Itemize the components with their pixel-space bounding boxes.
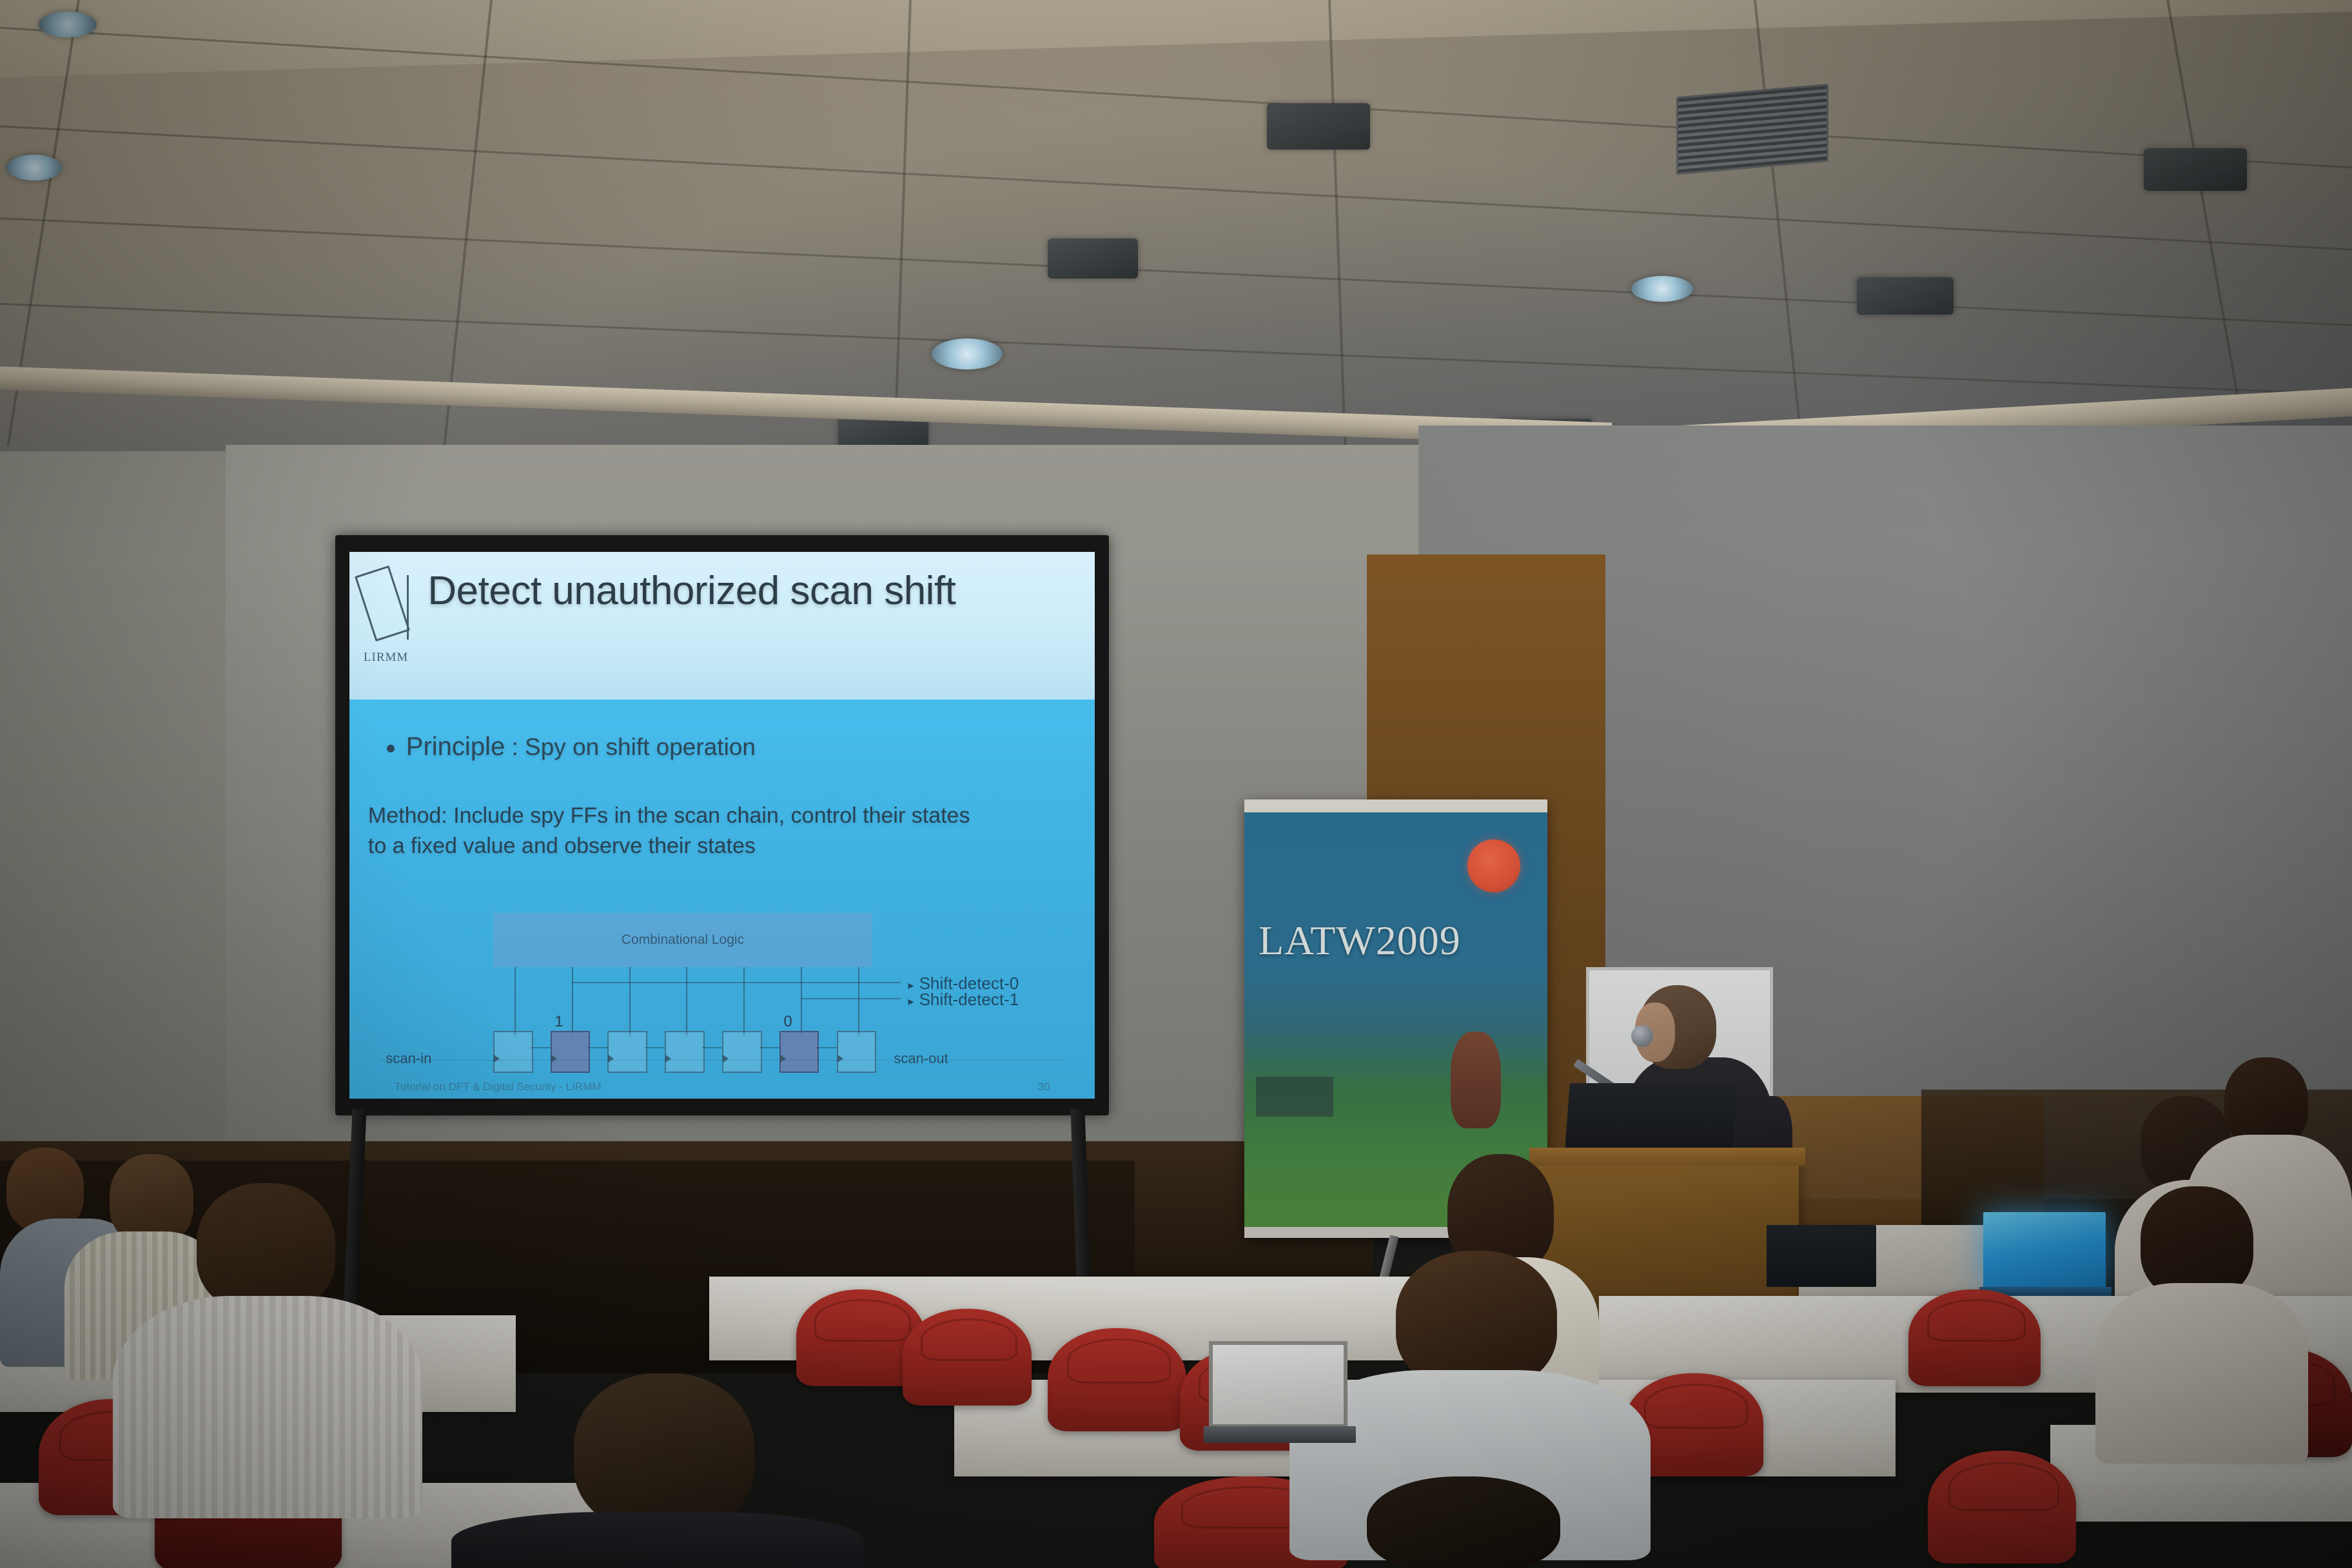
clock-input-icon [723,1055,729,1063]
flip-flop-spy [779,1031,819,1073]
slide-footer: Tutorial on DFT & Digital Security - LIR… [349,1081,1095,1093]
method-line-1: Method: Include spy FFs in the scan chai… [368,801,1076,831]
projection-screen-frame: LIRMM Detect unauthorized scan shift Pri… [335,535,1109,1115]
ceiling-downlight [1048,239,1138,279]
slide-method-text: Method: Include spy FFs in the scan chai… [368,801,1076,861]
clock-input-icon [665,1055,671,1063]
banner-logo-icon [1467,839,1520,892]
ceiling [0,0,2352,490]
logo-label: LIRMM [360,651,412,665]
spy-ff-value-0: 0 [783,1013,792,1031]
ceiling-downlight [1631,276,1693,302]
clock-input-icon [838,1055,843,1063]
laptop-screen-glowing [1983,1212,2106,1288]
equipment-laptop [1767,1225,1883,1302]
ceiling-cornice [0,366,1612,446]
person-body [2095,1283,2308,1464]
audience-person [451,1373,864,1568]
audience-person [113,1183,422,1518]
slide-page-number: 30 [1038,1081,1050,1093]
laptop-screen [1209,1341,1347,1428]
ceiling-grid-line [0,27,2352,169]
slide-footer-rule [379,1060,1065,1061]
bullet-dot-icon [387,745,395,752]
ceiling-downlight [39,12,97,37]
ceiling-grid-line [2166,0,2246,438]
flip-flop [493,1031,533,1073]
wire [743,967,745,1036]
clock-input-icon [551,1055,557,1063]
scan-chain-link [759,1047,779,1048]
shift-detect-wire [572,982,901,983]
ceiling-grid-line [0,217,2352,326]
person-body [451,1512,864,1568]
flip-flop-spy [551,1031,591,1073]
slide-footer-text: Tutorial on DFT & Digital Security - LIR… [394,1081,601,1093]
method-line-2: to a fixed value and observe their state… [368,831,1076,861]
ceiling-grid-line [0,125,2352,250]
shift-detect-wire [801,998,901,999]
wire [686,967,687,1036]
person-head [2141,1186,2253,1299]
logo-diamond-shape [355,565,410,642]
scan-chain-link [702,1047,722,1048]
laptop-base [1204,1426,1356,1443]
flip-flop [722,1031,762,1073]
wire [858,967,859,1036]
person-head [1367,1476,1560,1568]
flip-flop [665,1031,705,1073]
ceiling-downlight [1857,277,1954,315]
audience-chair [903,1309,1032,1406]
combinational-logic-label: Combinational Logic [622,932,744,948]
hvac-vent-icon [1676,84,1828,175]
projection-screen-surface: LIRMM Detect unauthorized scan shift Pri… [349,552,1095,1099]
conference-room-photo: LIRMM Detect unauthorized scan shift Pri… [0,0,2352,1568]
banner-top-strip [1244,799,1547,812]
bullet-separator: : [505,734,525,760]
shift-detect-1-label: ▸Shift-detect-1 [908,990,1019,1010]
laptop-screen [1767,1225,1876,1287]
ceiling-downlight [932,338,1003,369]
scan-chain-link [816,1047,836,1048]
clock-input-icon [780,1055,786,1063]
person-head [2224,1057,2308,1148]
microphone-head-icon [1631,1025,1653,1047]
audience-laptop [1209,1341,1357,1457]
audience-chair [1928,1451,2076,1563]
person-head [574,1373,754,1531]
banner-title: LATW2009 [1259,917,1461,965]
slide-bullet-principle: Principle : Spy on shift operation [387,732,1057,761]
slide-title: Detect unauthorized scan shift [427,568,1076,614]
scan-chain-link [587,1047,607,1048]
spy-ff-value-1: 1 [554,1013,563,1031]
wire [514,967,516,1036]
audience-person [2095,1186,2308,1464]
ceiling-grid-line [1754,0,1805,462]
clock-input-icon [608,1055,614,1063]
wire [572,967,573,1036]
audience-chair [1908,1289,2041,1386]
combinational-logic-block: Combinational Logic [493,913,872,967]
audience-chair [1048,1328,1186,1431]
wire [801,967,802,1036]
scan-out-label: scan-out [894,1050,948,1067]
bullet-text: Spy on shift operation [525,734,756,760]
arrow-icon: ▸ [908,995,914,1008]
scan-chain-link [645,1047,665,1048]
ceiling-downlight [2144,148,2247,191]
scan-in-label: scan-in [386,1050,431,1067]
person-head [1396,1251,1557,1389]
bullet-label: Principle [406,732,505,761]
ceiling-soffit [0,0,2352,77]
scan-chain-link [531,1047,551,1048]
ceiling-downlight [1267,103,1370,150]
flip-flop [607,1031,647,1073]
banner-graphic-box [1256,1077,1333,1117]
ceiling-grid-line [1328,0,1347,471]
wire [629,967,631,1036]
presentation-slide: LIRMM Detect unauthorized scan shift Pri… [349,552,1095,1099]
scan-chain-diagram: Combinational Logic [364,913,1080,1077]
ceiling-downlight [6,155,62,181]
logo-vertical-bar [407,575,409,640]
audience-person [1328,1476,1599,1568]
person-head [197,1183,335,1312]
clock-input-icon [494,1055,500,1063]
flip-flop [837,1031,877,1073]
person-body [113,1296,422,1518]
banner-figure-graphic [1451,1032,1501,1128]
lirmm-logo-icon: LIRMM [360,563,412,667]
